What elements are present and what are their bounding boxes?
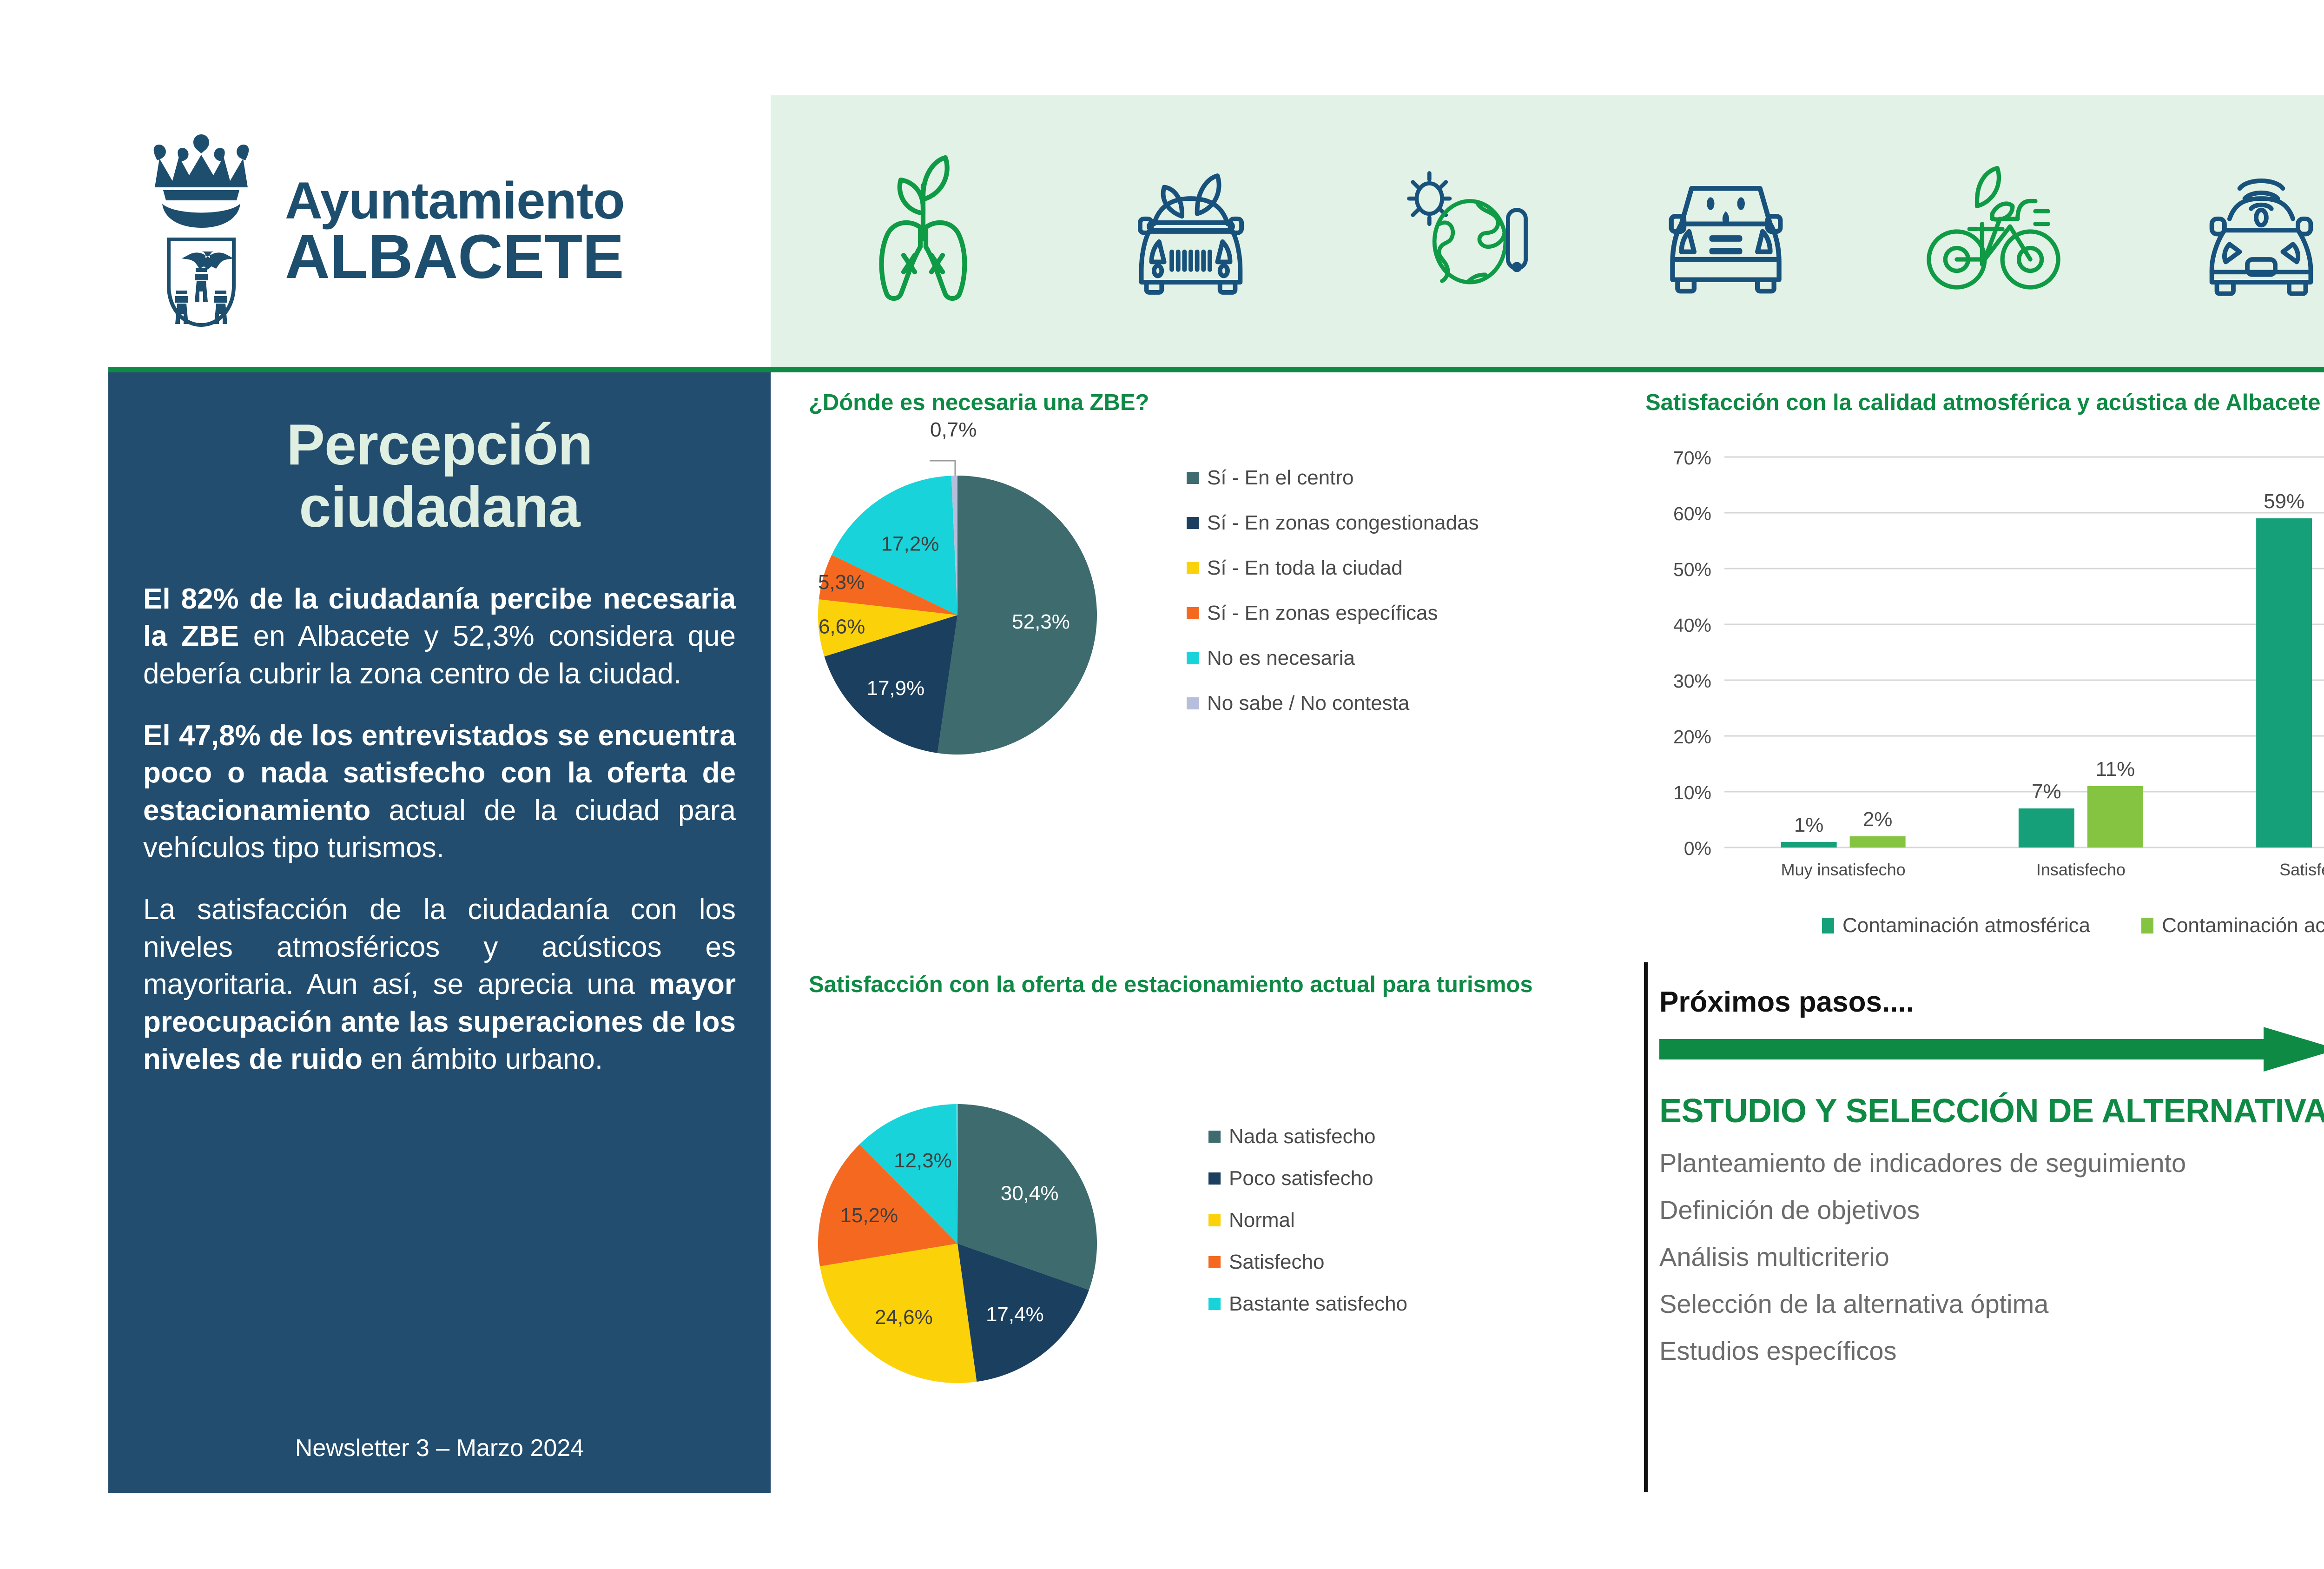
pie-estacionamiento-title: Satisfacción con la oferta de estacionam…	[809, 972, 1533, 998]
legend-label: Nada satisfecho	[1229, 1125, 1376, 1148]
pie-slice-label: 52,3%	[1012, 610, 1070, 633]
pie-slice-label: 17,4%	[986, 1303, 1044, 1326]
bar-value-label: 11%	[2095, 758, 2135, 781]
header: Ayuntamiento ALBACETE	[108, 95, 2324, 367]
logo-line-ayuntamiento: Ayuntamiento	[285, 175, 625, 226]
legend-color-chip	[1187, 517, 1199, 529]
legend-color-chip	[1187, 472, 1199, 484]
legend-color-chip	[1208, 1256, 1221, 1268]
legend-item: Bastante satisfecho	[1208, 1292, 1407, 1316]
legend-label: No sabe / No contesta	[1207, 692, 1409, 715]
summary-paragraph-3: La satisfacción de la ciudadanía con los…	[143, 891, 736, 1079]
x-axis-tick: Satisfecho	[2279, 860, 2324, 879]
legend-item: Sí - En toda la ciudad	[1187, 556, 1479, 580]
car-front-icon	[1656, 152, 1796, 311]
arrow-right-icon	[1659, 1027, 2324, 1072]
y-axis-tick: 0%	[1684, 838, 1711, 859]
infographic-page: Ayuntamiento ALBACETE	[0, 0, 2324, 1569]
legend-color-chip	[1187, 607, 1199, 619]
legend-color-chip	[1187, 697, 1199, 709]
next-steps-section: Próximos pasos.... ESTUDIO Y SELECCIÓN D…	[1659, 986, 2324, 1492]
legend-label: Sí - En el centro	[1207, 466, 1353, 490]
legend-color-chip	[2141, 918, 2153, 933]
pie-estacionamiento-canvas: 30,4%17,4%24,6%15,2%12,3%	[818, 1060, 1199, 1427]
pie-slice-label: 17,2%	[881, 533, 939, 556]
summary-paragraph-2: El 47,8% de los entrevistados se encuent…	[143, 717, 736, 867]
bar-chart-plot: 0%10%20%30%40%50%60%70%1%2%Muy insatisfe…	[1645, 438, 2324, 917]
legend-color-chip	[1187, 652, 1199, 664]
legend-item: Satisfecho	[1208, 1251, 1407, 1274]
pie-estacionamiento-legend: Nada satisfechoPoco satisfechoNormalSati…	[1208, 1125, 1407, 1334]
bar	[2256, 518, 2312, 847]
legend-item: No es necesaria	[1187, 647, 1479, 670]
legend-color-chip	[1208, 1131, 1221, 1143]
y-axis-tick: 20%	[1673, 726, 1711, 748]
legend-color-chip	[1208, 1298, 1221, 1310]
sun-globe-thermometer-icon	[1389, 152, 1528, 311]
header-divider	[108, 367, 2324, 372]
y-axis-tick: 50%	[1673, 559, 1711, 580]
bar-value-label: 7%	[2032, 780, 2061, 803]
pie-slice-label: 0,7%	[930, 418, 977, 441]
pie-slice-label: 30,4%	[1001, 1182, 1059, 1205]
pie-slice-label: 12,3%	[894, 1149, 952, 1172]
x-axis-tick: Insatisfecho	[2036, 860, 2126, 879]
albacete-coat-of-arms-icon	[141, 132, 262, 331]
legend-item: Sí - En el centro	[1187, 466, 1479, 490]
legend-item: Contaminación acústica	[2141, 914, 2324, 937]
legend-item: Normal	[1208, 1209, 1407, 1232]
legend-item: Nada satisfecho	[1208, 1125, 1407, 1148]
pie-slice-label: 6,6%	[819, 616, 865, 638]
chart-pie-estacionamiento: Satisfacción con la oferta de estacionam…	[809, 972, 1627, 1492]
eco-car-leaf-icon	[1121, 152, 1261, 311]
bar-value-label: 1%	[1794, 814, 1824, 836]
next-steps-list: Planteamiento de indicadores de seguimie…	[1659, 1148, 2324, 1366]
eco-bicycle-icon	[1924, 152, 2063, 311]
bar-value-label: 2%	[1863, 808, 1893, 831]
legend-label: Sí - En zonas congestionadas	[1207, 511, 1479, 535]
legend-item: Poco satisfecho	[1208, 1167, 1407, 1190]
next-steps-heading: ESTUDIO Y SELECCIÓN DE ALTERNATIVAS	[1659, 1092, 2324, 1130]
next-step-item: Análisis multicriterio	[1659, 1242, 2324, 1272]
chart-bar-satisfaccion: Satisfacción con la calidad atmosférica …	[1645, 390, 2324, 961]
legend-label: Sí - En toda la ciudad	[1207, 556, 1403, 580]
y-axis-tick: 40%	[1673, 615, 1711, 636]
legend-label: No es necesaria	[1207, 647, 1355, 670]
next-step-item: Definición de objetivos	[1659, 1195, 2324, 1225]
legend-color-chip	[1822, 918, 1834, 933]
lungs-plant-icon	[853, 152, 993, 311]
bar	[2019, 808, 2074, 847]
logo-block: Ayuntamiento ALBACETE	[108, 95, 771, 367]
legend-item: Contaminación atmosférica	[1822, 914, 2090, 937]
header-icon-strip	[771, 95, 2324, 367]
summary-3-pre: La satisfacción de la ciudadanía con los…	[143, 894, 736, 1000]
legend-color-chip	[1208, 1214, 1221, 1226]
pie-zbe-legend: Sí - En el centroSí - En zonas congestio…	[1187, 466, 1479, 737]
legend-item: Sí - En zonas congestionadas	[1187, 511, 1479, 535]
newsletter-footer: Newsletter 3 – Marzo 2024	[108, 1434, 771, 1462]
bar	[2087, 786, 2143, 847]
pie-slice-label: 17,9%	[866, 677, 924, 700]
legend-label: Sí - En zonas específicas	[1207, 602, 1438, 625]
bar-chart-title: Satisfacción con la calidad atmosférica …	[1645, 390, 2320, 416]
legend-color-chip	[1208, 1172, 1221, 1185]
pie-slice-label: 24,6%	[875, 1306, 933, 1329]
legend-label: Bastante satisfecho	[1229, 1292, 1407, 1316]
next-step-item: Selección de la alternativa óptima	[1659, 1289, 2324, 1319]
pie-slice-label: 5,3%	[818, 571, 865, 594]
logo-line-albacete: ALBACETE	[285, 226, 625, 287]
legend-color-chip	[1187, 562, 1199, 574]
next-steps-kicker: Próximos pasos....	[1659, 986, 2324, 1019]
left-summary-panel: Percepción ciudadana El 82% de la ciudad…	[108, 372, 771, 1493]
connected-car-wifi-icon	[2192, 152, 2324, 311]
summary-paragraph-1: El 82% de la ciudadanía percibe necesari…	[143, 581, 736, 693]
pie-slice-label: 15,2%	[840, 1204, 898, 1227]
legend-item: Sí - En zonas específicas	[1187, 602, 1479, 625]
legend-label: Contaminación atmosférica	[1842, 914, 2090, 937]
summary-3-post: en ámbito urbano.	[363, 1043, 603, 1075]
legend-label: Satisfecho	[1229, 1251, 1324, 1274]
logo-wordmark: Ayuntamiento ALBACETE	[285, 175, 625, 287]
bar	[1850, 836, 1906, 847]
bar-value-label: 59%	[2264, 490, 2304, 513]
y-axis-tick: 60%	[1673, 503, 1711, 524]
legend-label: Contaminación acústica	[2162, 914, 2324, 937]
next-steps-divider	[1644, 962, 1648, 1492]
y-axis-tick: 10%	[1673, 782, 1711, 803]
pie-zbe-canvas: 52,3%17,9%6,6%5,3%17,2%0,7%	[813, 438, 1185, 792]
next-step-item: Planteamiento de indicadores de seguimie…	[1659, 1148, 2324, 1178]
bar-chart-legend: Contaminación atmosféricaContaminación a…	[1822, 914, 2324, 937]
legend-item: No sabe / No contesta	[1187, 692, 1479, 715]
next-step-item: Estudios específicos	[1659, 1336, 2324, 1366]
chart-pie-zbe: ¿Dónde es necesaria una ZBE? 52,3%17,9%6…	[809, 390, 1627, 924]
x-axis-tick: Muy insatisfecho	[1781, 860, 1906, 879]
legend-label: Normal	[1229, 1209, 1295, 1232]
page-title: Percepción ciudadana	[143, 414, 736, 539]
y-axis-tick: 30%	[1673, 670, 1711, 692]
pie-zbe-title: ¿Dónde es necesaria una ZBE?	[809, 390, 1149, 416]
legend-label: Poco satisfecho	[1229, 1167, 1373, 1190]
y-axis-tick: 70%	[1673, 447, 1711, 469]
bar	[1781, 842, 1837, 847]
